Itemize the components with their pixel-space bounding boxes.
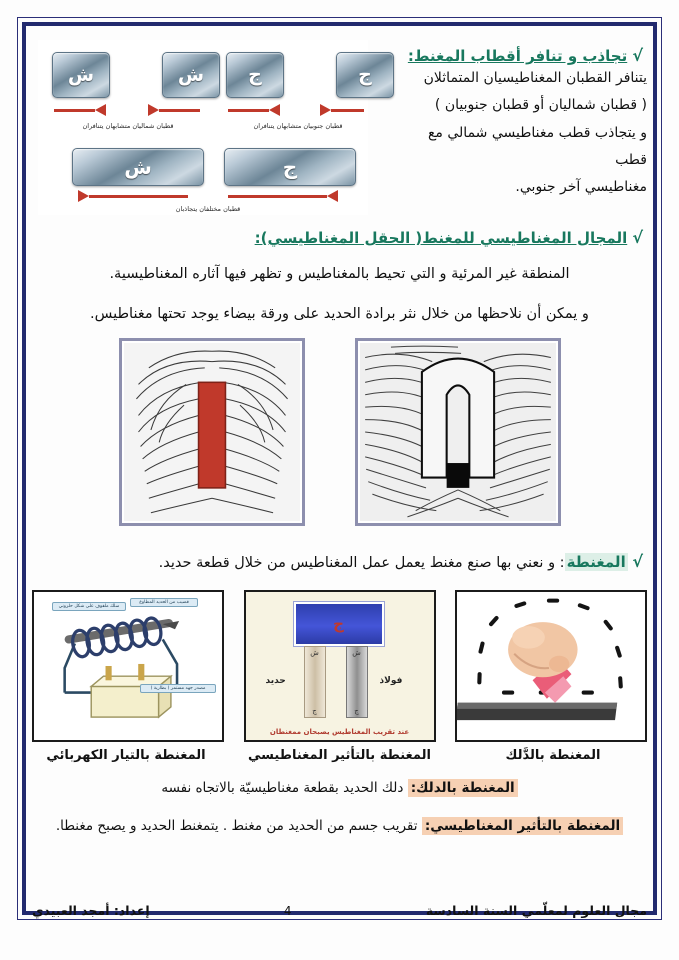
steel-label: فولاذ bbox=[380, 676, 403, 686]
poles-heading-row: √ تجاذب و تنافر أقطاب المغنط: bbox=[407, 46, 647, 65]
iron-bar-pole-top: ش bbox=[310, 649, 319, 657]
figure-caption-1: قطبان شماليان متشابهان يتنافران bbox=[48, 122, 208, 130]
magnetisation-heading-row: √ المغنطة: و نعني بها صنع مغنط يعمل عمل … bbox=[32, 552, 647, 571]
page-number: 4 bbox=[284, 904, 292, 918]
field-paragraph-1: المنطقة غير المرئية و التي تحيط بالمغناط… bbox=[32, 261, 647, 289]
poles-line-1: يتنافر القطبان المغناطيسيان المتماثلان bbox=[407, 65, 647, 92]
induction-illustration: ج ش ج ش ج حديد فولاذ عند تقريب المغناطيس… bbox=[246, 592, 434, 740]
field-heading-row: √ المجال المغناطيسي للمغنط( الحقل المغنا… bbox=[32, 228, 647, 247]
magnet-pair-south: ج ج bbox=[226, 52, 394, 98]
check-bullet-icon-3: √ bbox=[632, 552, 643, 571]
figure-caption-2: قطبان جنوبيان متشابهان يتنافران bbox=[218, 122, 378, 130]
iron-label: حديد bbox=[266, 676, 286, 686]
figure-caption-3: قطبان مختلفان يتجاذبان bbox=[128, 205, 288, 213]
document-page: √ تجاذب و تنافر أقطاب المغنط: يتنافر الق… bbox=[0, 0, 679, 960]
photo-bar-magnet bbox=[119, 338, 305, 526]
section-magnetic-field: √ المجال المغناطيسي للمغنط( الحقل المغنا… bbox=[32, 228, 647, 328]
page-footer: مجال العلوم لمعلّمي السنة السادسة 4 إعدا… bbox=[32, 903, 647, 918]
check-bullet-icon-2: √ bbox=[632, 228, 643, 247]
magnet-block-north-1: ش bbox=[162, 52, 220, 98]
poles-figure: ش ش قطبان شماليان متشابهان يتنافران ج ج bbox=[38, 40, 368, 215]
callout-iron-rod: قضيب من الحديد المطاوع bbox=[130, 598, 198, 607]
poles-line-3: و يتجاذب قطب مغناطيسي شمالي مع قطب bbox=[407, 120, 647, 175]
induction-magnet-block: ج bbox=[294, 602, 384, 646]
magnet-long-north: ش bbox=[72, 148, 204, 186]
poles-line-4: مغناطيسي آخر جنوبي. bbox=[407, 174, 647, 201]
footer-author: إعداد: أمجد العبيدي bbox=[32, 903, 150, 918]
callout-coil: سلك ملفوف على شكل حلزوني bbox=[52, 602, 126, 611]
page-content: √ تجاذب و تنافر أقطاب المغنط: يتنافر الق… bbox=[32, 32, 647, 905]
magnetisation-heading: المغنطة bbox=[565, 553, 628, 571]
diagram-electromagnet: قضيب من الحديد المطاوع سلك ملفوف على شكل… bbox=[32, 590, 224, 742]
magnetisation-heading-rest: : و نعني بها صنع مغنط يعمل عمل المغناطيس… bbox=[159, 555, 565, 571]
steel-bar-pole-top: ش bbox=[352, 649, 361, 657]
field-photos bbox=[32, 338, 647, 538]
footer-right-text: مجال العلوم لمعلّمي السنة السادسة bbox=[426, 903, 647, 918]
check-bullet-icon: √ bbox=[632, 46, 643, 65]
steel-bar: ش ج bbox=[346, 646, 368, 718]
definition-rubbing: المغنطة بالدلك: دلك الحديد بقطعة مغناطيس… bbox=[32, 780, 647, 796]
magnet-block-south-2: ج bbox=[226, 52, 284, 98]
diagram-captions: المغنطة بالدَّلك المغنطة بالتأثير المغنا… bbox=[32, 748, 647, 763]
poles-heading: تجاذب و تنافر أقطاب المغنط: bbox=[408, 47, 627, 65]
field-paragraph-2: و يمكن أن نلاحظها من خلال نثر برادة الحد… bbox=[32, 301, 647, 329]
iron-bar-pole-bottom: ج bbox=[312, 707, 317, 715]
diagram-magnetic-induction: ج ش ج ش ج حديد فولاذ عند تقريب المغناطيس… bbox=[244, 590, 436, 742]
definition-induction-text: تقريب جسم من الحديد من مغنط . يتمغنط الح… bbox=[56, 818, 418, 834]
iron-bar: ش ج bbox=[304, 646, 326, 718]
diagram-rubbing bbox=[455, 590, 647, 742]
repel-arrow-right-2 bbox=[320, 106, 364, 114]
section-poles: √ تجاذب و تنافر أقطاب المغنط: يتنافر الق… bbox=[32, 32, 647, 232]
magnet-block-long-north: ش bbox=[72, 148, 204, 186]
definition-induction-term: المغنطة بالتأثير المغناطيسي: bbox=[422, 817, 623, 835]
field-heading: المجال المغناطيسي للمغنط( الحقل المغناطي… bbox=[255, 229, 628, 247]
magnet-block-long-south: ج bbox=[224, 148, 356, 186]
magnet-long-south: ج bbox=[224, 148, 356, 186]
poles-line-2: ( قطبان شماليان أو قطبان جنوبيان ) bbox=[407, 92, 647, 119]
repel-arrow-left-2 bbox=[228, 106, 280, 114]
definition-rubbing-term: المغنطة بالدلك: bbox=[408, 779, 518, 797]
section-magnetisation: √ المغنطة: و نعني بها صنع مغنط يعمل عمل … bbox=[32, 552, 647, 571]
repel-arrow-left-1 bbox=[54, 106, 106, 114]
poles-text-block: √ تجاذب و تنافر أقطاب المغنط: يتنافر الق… bbox=[407, 46, 647, 201]
iron-filings-pattern-horseshoe bbox=[360, 343, 556, 521]
caption-rubbing: المغنطة بالدَّلك bbox=[459, 748, 647, 763]
induction-inner-caption: عند تقريب المغناطيس يصبحان ممغنطان bbox=[246, 728, 434, 736]
attract-arrow-right bbox=[228, 192, 338, 200]
caption-electromagnet: المغنطة بالتيار الكهربائي bbox=[32, 748, 220, 763]
electromagnet-illustration: قضيب من الحديد المطاوع سلك ملفوف على شكل… bbox=[34, 592, 222, 740]
steel-bar-pole-bottom: ج bbox=[354, 707, 359, 715]
photo-horseshoe-magnet bbox=[355, 338, 561, 526]
magnetisation-diagrams: ج ش ج ش ج حديد فولاذ عند تقريب المغناطيس… bbox=[32, 590, 647, 740]
rubbing-illustration bbox=[457, 592, 645, 740]
definition-rubbing-text: دلك الحديد بقطعة مغناطيسيّة بالاتجاه نفس… bbox=[161, 780, 403, 796]
magnet-block-south-1: ج bbox=[336, 52, 394, 98]
repel-arrow-right-1 bbox=[148, 106, 200, 114]
magnetisation-definitions: المغنطة بالدلك: دلك الحديد بقطعة مغناطيس… bbox=[32, 780, 647, 856]
callout-battery: مصدر جهد مستمر ( بطارية ) bbox=[140, 684, 216, 693]
definition-induction: المغنطة بالتأثير المغناطيسي: تقريب جسم م… bbox=[32, 818, 647, 834]
iron-filings-pattern-bar bbox=[124, 343, 300, 521]
attract-arrow-left bbox=[78, 192, 188, 200]
caption-induction: المغنطة بالتأثير المغناطيسي bbox=[246, 748, 434, 763]
magnet-block-north-2: ش bbox=[52, 52, 110, 98]
magnet-pair-north: ش ش bbox=[52, 52, 220, 98]
